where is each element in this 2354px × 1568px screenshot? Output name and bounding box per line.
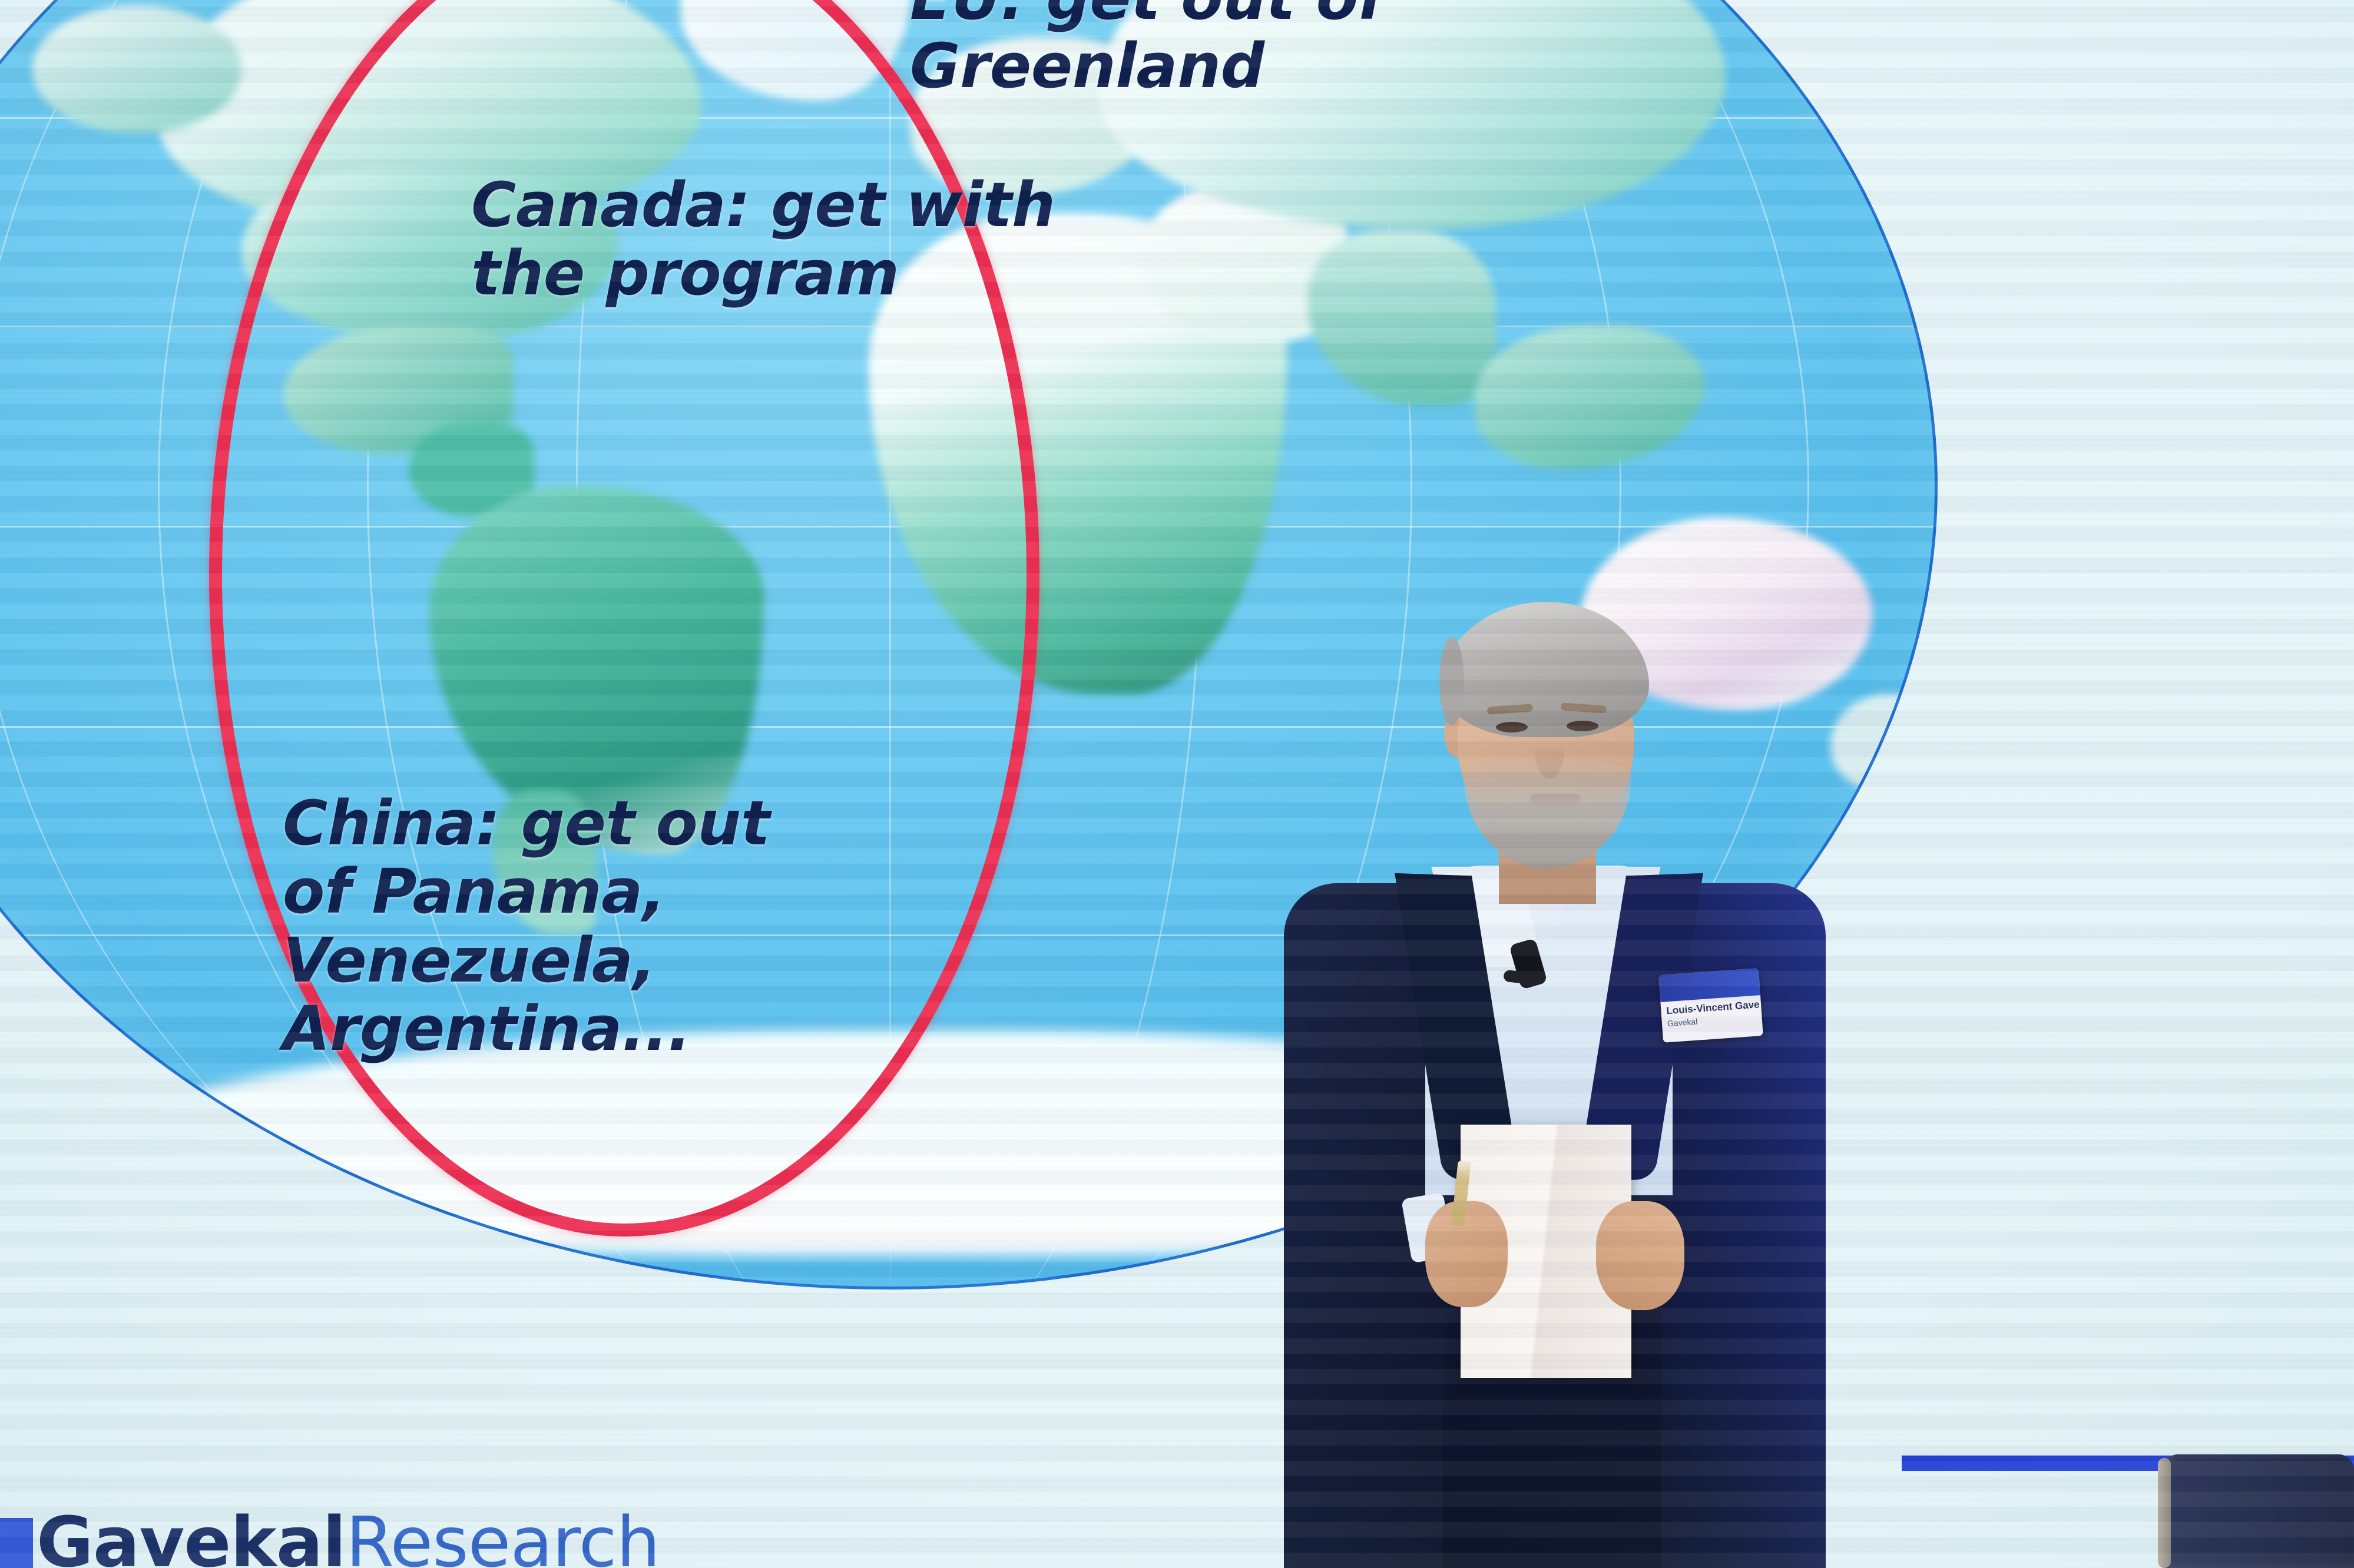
eye-right	[1567, 721, 1598, 731]
projection-screen: EU: get out of Greenland Canada: get wit…	[0, 0, 2354, 1568]
name-badge: Louis-Vincent Gave Gavekal	[1658, 968, 1763, 1043]
hand-right	[1596, 1201, 1684, 1310]
speaker-figure: Louis-Vincent Gave Gavekal	[1249, 606, 1837, 1568]
badge-org-text: Gavekal	[1667, 1017, 1697, 1029]
logo-primary-text: Gavekal	[37, 1501, 346, 1568]
logo-wordmark: GavekalResearch	[37, 1507, 660, 1568]
hand-left	[1425, 1201, 1508, 1307]
annotation-canada: Canada: get with the program	[471, 171, 1055, 308]
chair-frame-edge	[2158, 1458, 2171, 1568]
annotation-eu: EU: get out of Greenland	[910, 0, 1384, 101]
gavekal-research-logo: GavekalResearch	[0, 1507, 660, 1568]
badge-name-text: Louis-Vincent Gave	[1666, 999, 1760, 1017]
beard	[1464, 763, 1631, 868]
landmass-new-zealand	[1830, 694, 1935, 790]
logo-secondary-text: Research	[346, 1501, 660, 1568]
logo-mark-icon	[0, 1518, 33, 1568]
screenshot-root: EU: get out of Greenland Canada: get wit…	[0, 0, 2354, 1568]
eye-left	[1496, 722, 1528, 732]
chair-back	[2163, 1454, 2354, 1568]
landmass-southeast-asia	[1475, 326, 1705, 470]
landmass-india	[1307, 230, 1496, 406]
hair	[1443, 602, 1649, 737]
landmass-alaska	[32, 5, 241, 134]
annotation-china: China: get out of Panama, Venezuela, Arg…	[283, 789, 770, 1063]
